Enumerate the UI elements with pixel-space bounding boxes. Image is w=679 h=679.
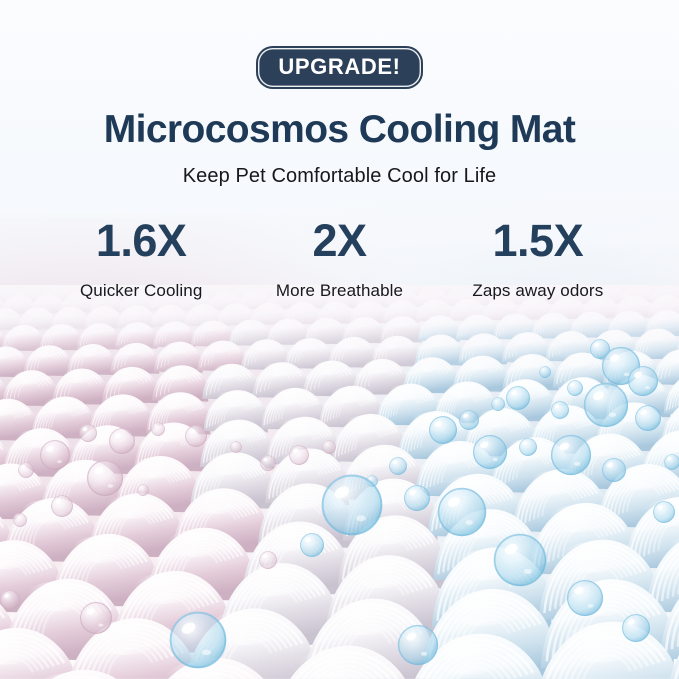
- mat-crown-highlight: [356, 447, 400, 468]
- mat-illustration: {}: [0, 285, 679, 679]
- mat-crown-highlight: [388, 385, 421, 401]
- stat-label: More Breathable: [240, 281, 438, 301]
- stat-item-zaps-away-odors: 1.5X Zaps away odors: [439, 218, 637, 301]
- product-marketing-image: {}: [0, 0, 679, 679]
- stats-row: 1.6X Quicker Cooling 2X More Breathable …: [0, 218, 679, 301]
- subtitle: Keep Pet Comfortable Cool for Life: [0, 165, 679, 188]
- mat-crown-highlight: [503, 381, 536, 397]
- mat-crown-highlight: [43, 398, 76, 414]
- mat-crown-highlight: [82, 427, 120, 445]
- mat-crown-highlight: [431, 443, 475, 464]
- mat-crown-highlight: [477, 410, 515, 428]
- upgrade-badge: UPGRADE!: [256, 46, 422, 89]
- mat-crown-highlight: [56, 462, 100, 483]
- mat-crown-highlight: [361, 481, 410, 505]
- mat-crown-highlight: [134, 574, 196, 604]
- mat-crown-highlight: [263, 524, 319, 551]
- mat-crown-highlight: [281, 450, 325, 471]
- mat-crown-highlight: [446, 476, 495, 500]
- stat-label: Quicker Cooling: [42, 281, 240, 301]
- mat-crown-highlight: [131, 458, 175, 479]
- stat-item-more-breathable: 2X More Breathable: [240, 218, 438, 301]
- mat-crown-highlight: [454, 511, 510, 538]
- mat-crown-highlight: [206, 454, 250, 475]
- mat-crown-highlight: [530, 471, 579, 495]
- mat-crown-highlight: [411, 413, 449, 431]
- mat-crown-highlight: [581, 435, 625, 456]
- mat-crown-highlight: [562, 542, 624, 572]
- mat-rows: {}: [0, 285, 679, 679]
- mat-crown-highlight: [148, 424, 186, 442]
- stat-value: 1.5X: [439, 218, 637, 263]
- mat-crown-highlight: [101, 396, 134, 412]
- mat-crown-highlight: [273, 389, 306, 405]
- mat-crown-highlight: [506, 439, 550, 460]
- mat-crown-highlight: [21, 500, 70, 524]
- mat-crown-highlight: [158, 394, 191, 410]
- mat-crown-highlight: [615, 466, 664, 490]
- mat-crown-highlight: [543, 407, 581, 425]
- mat-crown-highlight: [216, 392, 249, 408]
- mat-crown-highlight: [241, 566, 303, 596]
- mat-crown-highlight: [455, 550, 517, 580]
- mat-crown-highlight: [191, 490, 240, 514]
- mat-crown-highlight: [214, 421, 252, 439]
- mat-crown-highlight: [328, 602, 397, 636]
- mat-crown-highlight: [106, 495, 155, 519]
- mat-crown-highlight: [447, 592, 516, 626]
- stat-value: 2X: [240, 218, 438, 263]
- mat-crown-highlight: [209, 611, 278, 645]
- mat-crown-highlight: [429, 637, 506, 675]
- mat-crown-highlight: [27, 581, 89, 611]
- stat-label: Zaps away odors: [439, 281, 637, 301]
- mat-crown-highlight: [549, 505, 605, 532]
- stat-value: 1.6X: [42, 218, 240, 263]
- mat-crown-highlight: [346, 416, 384, 434]
- mat-crown-highlight: [609, 404, 647, 422]
- mat-crown-highlight: [276, 486, 325, 510]
- mat-crown-highlight: [72, 536, 128, 563]
- mat-crown-highlight: [358, 518, 414, 545]
- cooling-mat-texture: {}: [0, 285, 679, 679]
- page-title: Microcosmos Cooling Mat: [0, 109, 679, 152]
- mat-crown-highlight: [90, 621, 159, 655]
- stat-item-quicker-cooling: 1.6X Quicker Cooling: [42, 218, 240, 301]
- mat-crown-highlight: [17, 430, 55, 448]
- mat-crown-highlight: [280, 418, 318, 436]
- mat-crown-highlight: [566, 582, 635, 616]
- mat-crown-highlight: [561, 625, 638, 663]
- mat-crown-highlight: [446, 383, 479, 399]
- mat-crown-highlight: [348, 558, 410, 588]
- mat-crown-highlight: [331, 387, 364, 403]
- header-text-block: UPGRADE! Microcosmos Cooling Mat Keep Pe…: [0, 0, 679, 188]
- mat-crown-highlight: [167, 530, 223, 557]
